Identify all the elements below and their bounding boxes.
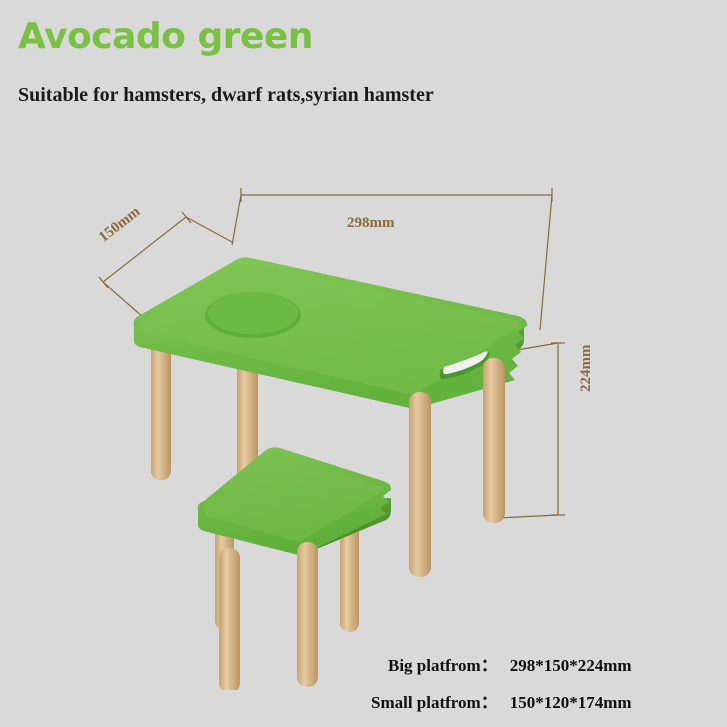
spec-small-platform-label: Small platfrom： <box>371 688 498 713</box>
small-platform-legs-front <box>219 542 318 690</box>
dimension-label-height: 224mm <box>578 345 595 393</box>
page-title: Avocado green <box>18 16 313 57</box>
spec-small-platform-value: 150*120*174mm <box>510 693 632 713</box>
spec-big-platform-label: Big platfrom： <box>388 651 498 676</box>
spec-big-platform-value: 298*150*224mm <box>510 656 632 676</box>
spec-small-platform: Small platfrom：150*120*174mm <box>371 688 632 713</box>
product-svg <box>0 130 727 690</box>
page-subtitle: Suitable for hamsters, dwarf rats,syrian… <box>18 84 434 107</box>
product-infographic: Avocado green Suitable for hamsters, dwa… <box>0 0 727 727</box>
big-platform-top <box>134 257 527 408</box>
spec-big-platform: Big platfrom：298*150*224mm <box>388 651 632 676</box>
dimension-label-width: 298mm <box>347 215 395 232</box>
product-illustration <box>0 130 727 690</box>
